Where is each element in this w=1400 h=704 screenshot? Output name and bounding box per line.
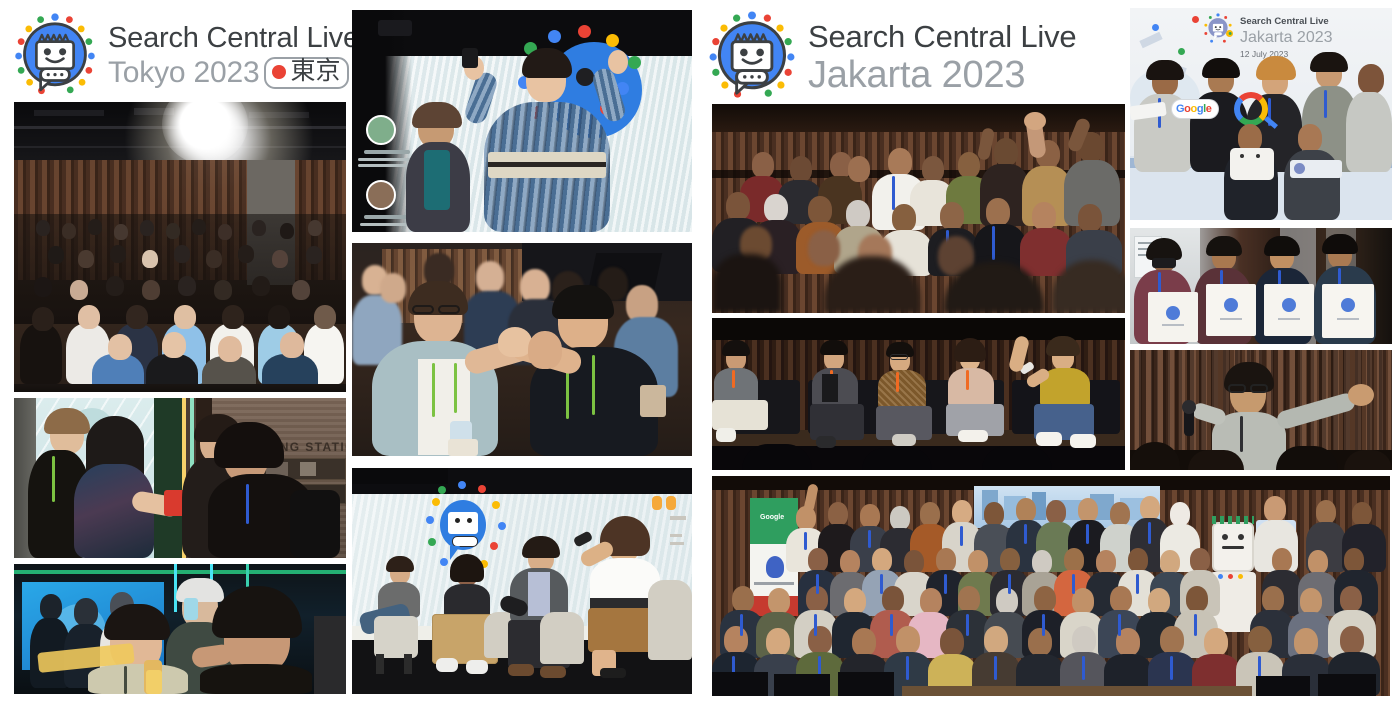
photo-tokyo-charging-station: CHARGING STATION Attend [14, 398, 346, 558]
group-photo-crowd [712, 476, 1390, 696]
photo-jakarta-photo-wall: Search Central Live Jakarta 2023 12 July… [1130, 8, 1392, 220]
tokyo-event-logo: Search Central Live Tokyo 2023 東京 [12, 12, 359, 100]
tokyo-badge-label: 東京 [290, 59, 340, 84]
search-central-mascot-icon [12, 12, 98, 100]
tokyo-japanese-badge: 東京 [264, 57, 349, 89]
photo-jakarta-audience-waving: Jakarta audience laughing and raising ha… [712, 104, 1125, 313]
wall-banner-line2: Jakarta 2023 [1240, 29, 1333, 47]
jakarta-logo-text: Search Central Live Jakarta 2023 [808, 21, 1076, 94]
crowd-front [14, 102, 346, 392]
jakarta-logo-line2: Jakarta 2023 [808, 56, 1025, 94]
wall-banner-line1: Search Central Live [1240, 16, 1329, 27]
photo-tokyo-heart-gesture: Two attendees forming a heart shape with… [352, 243, 692, 456]
photo-jakarta-question-mic: Attendee standing with a microphone aski… [1130, 350, 1392, 470]
jakarta-event-logo: Search Central Live Jakarta 2023 [706, 10, 1076, 104]
photo-tokyo-reception-drinks: Evening reception, attendees with drinks… [14, 564, 346, 694]
tokyo-logo-text: Search Central Live Tokyo 2023 東京 [108, 24, 359, 89]
photo-tokyo-yukata-speaker: Speaker in blue yukata raising arms on s… [352, 10, 692, 232]
photo-tokyo-panel-stage: Four panelists seated on stage, one spea… [352, 468, 692, 694]
tokyo-logo-line1: Search Central Live [108, 24, 359, 53]
photo-jakarta-panel-stage: Five panelists on stage sofas, one holdi… [712, 318, 1125, 470]
search-central-mascot-icon [706, 10, 798, 104]
photo-tokyo-audience-group: Large seated audience in a conference ha… [14, 102, 346, 392]
collage-canvas: Search Central Live Tokyo 2023 東京 [0, 0, 1400, 704]
photo-jakarta-group-photo: Google [712, 476, 1390, 696]
japan-flag-dot-icon [272, 65, 286, 79]
google-prop-icon: Google [1176, 102, 1212, 116]
photo-jakarta-tote-bags: Four attendees holding up white event to… [1130, 228, 1392, 344]
tokyo-logo-line2: Tokyo 2023 [108, 58, 259, 88]
magnifier-prop-icon [1234, 92, 1268, 126]
jakarta-logo-line1: Search Central Live [808, 21, 1076, 52]
